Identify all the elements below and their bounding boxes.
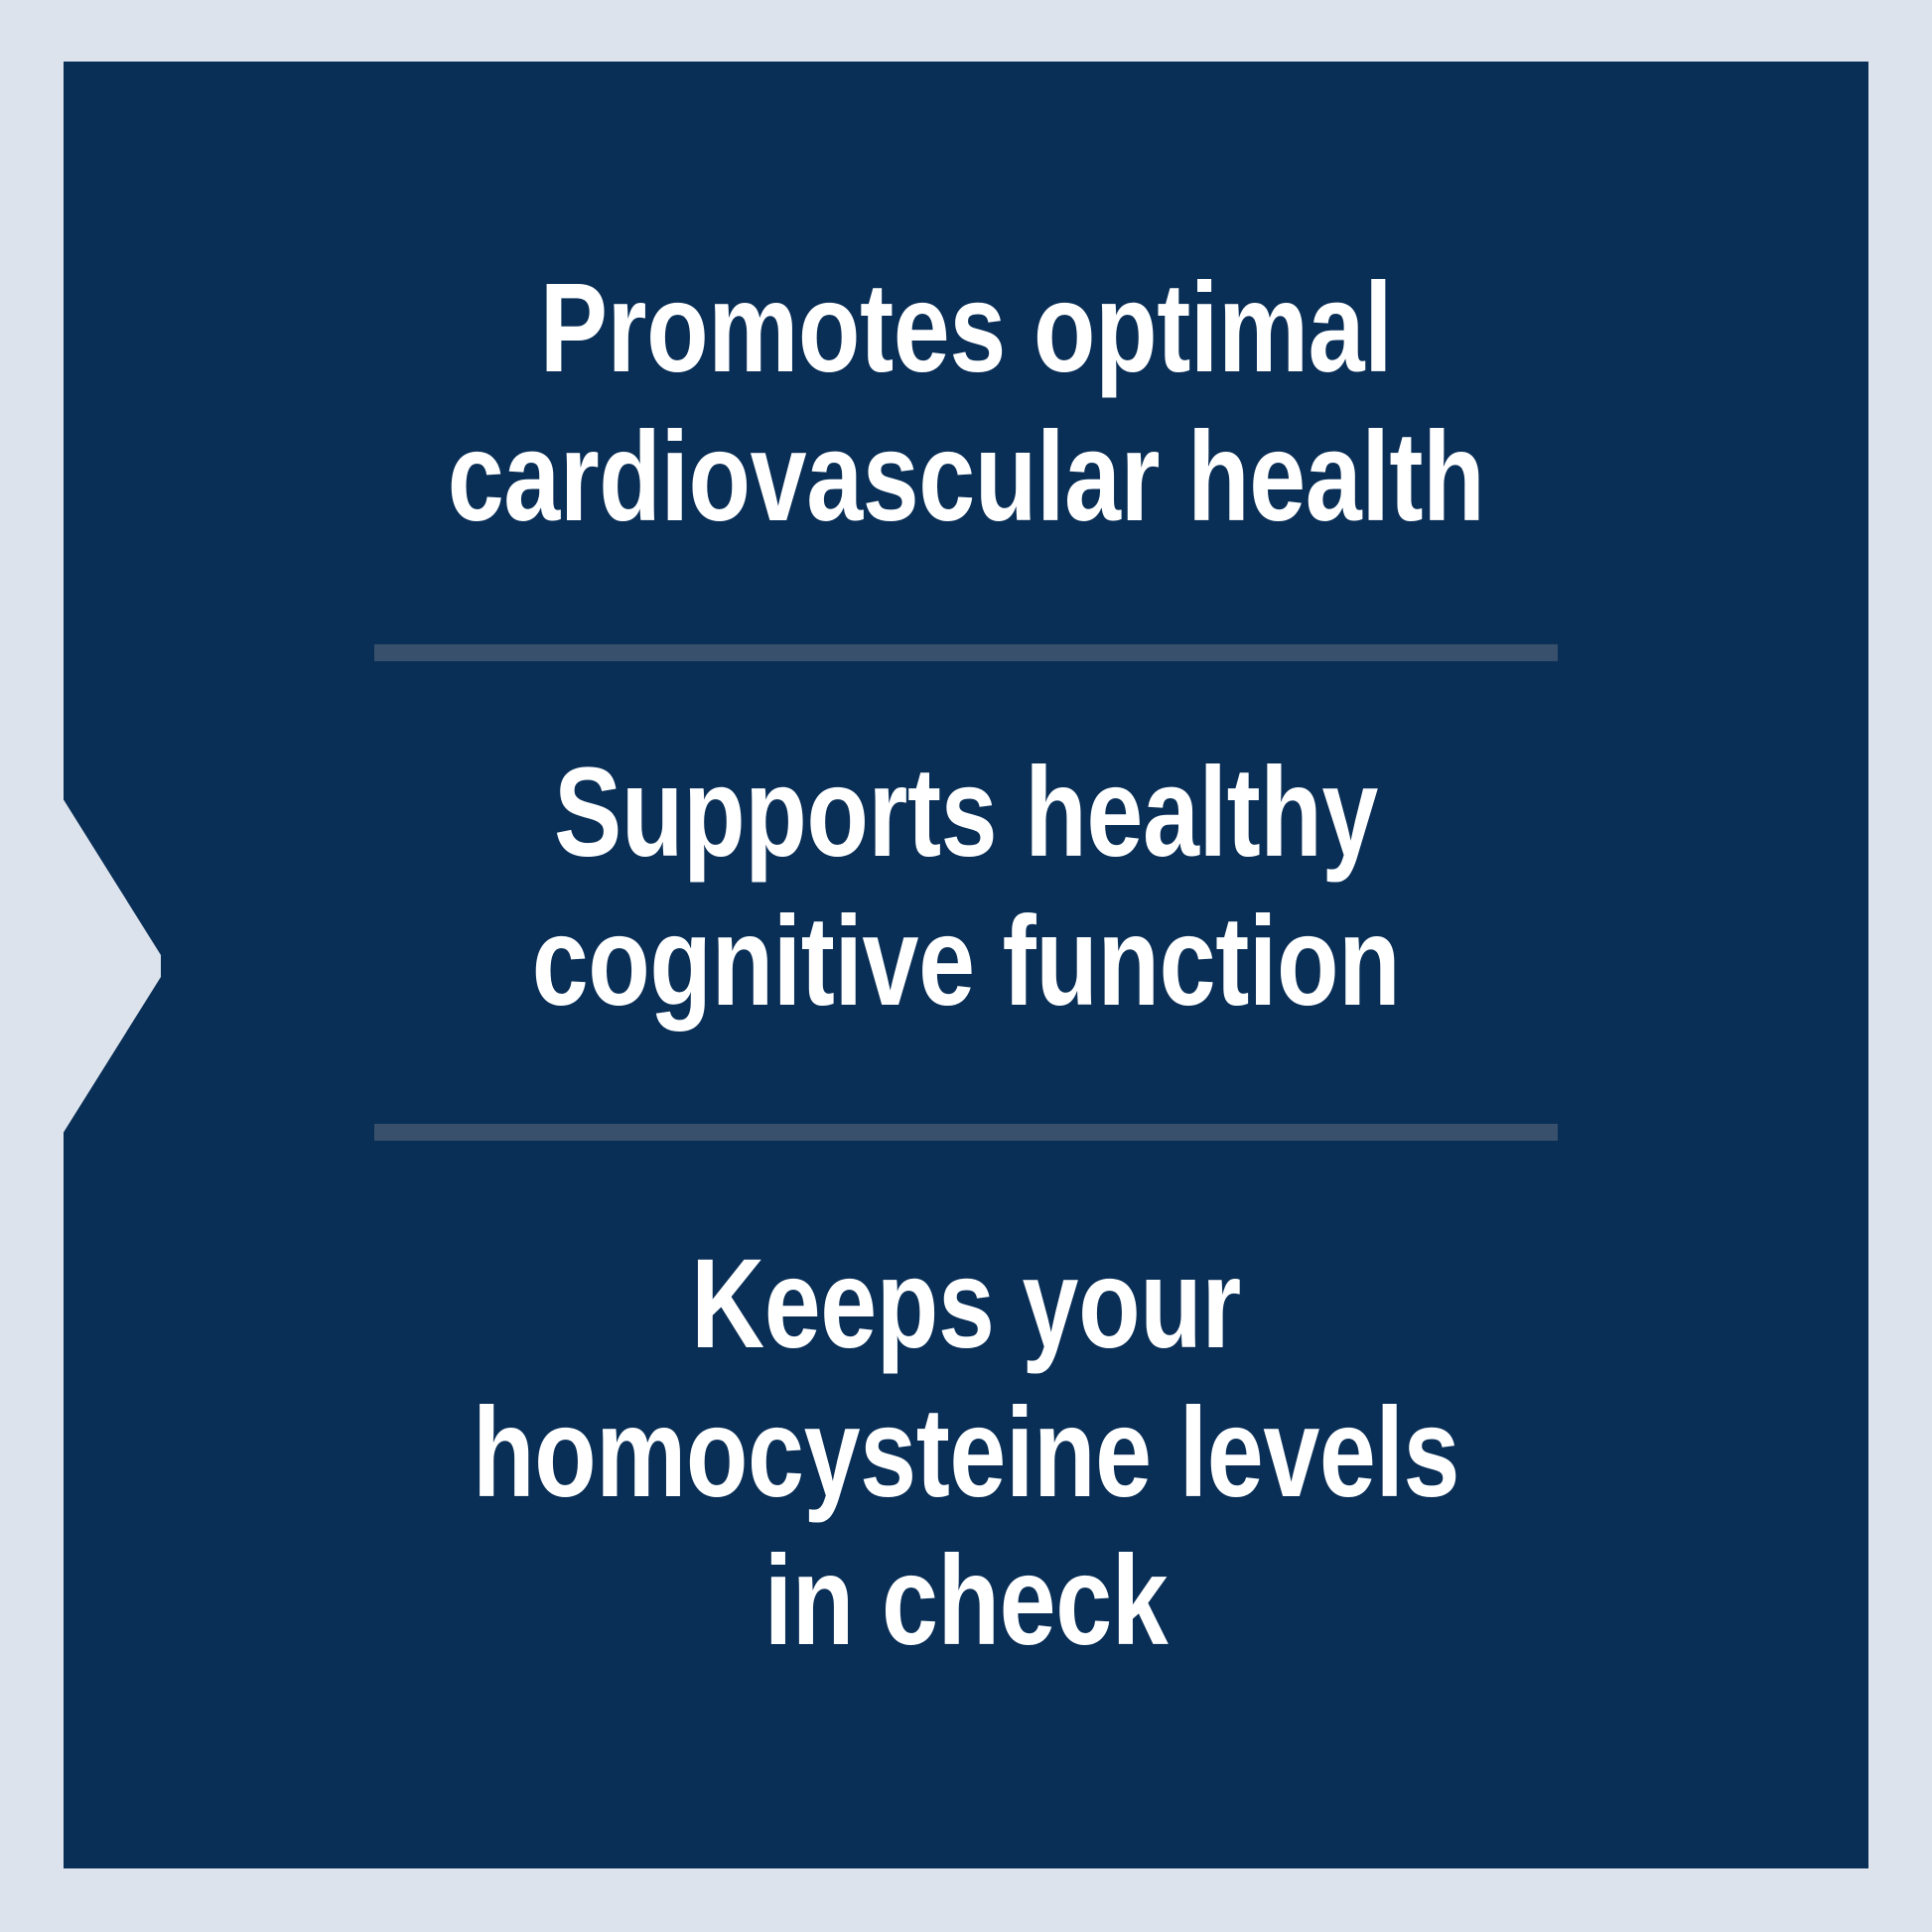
benefit-item-cognitive: Supports healthy cognitive function	[402, 739, 1530, 1036]
product-benefits-card: Promotes optimal cardiovascular health S…	[0, 0, 1932, 1932]
benefits-panel: Promotes optimal cardiovascular health S…	[64, 62, 1868, 1868]
benefit-divider-1	[374, 644, 1558, 661]
benefit-item-cardiovascular: Promotes optimal cardiovascular health	[402, 254, 1530, 552]
benefit-divider-2	[374, 1124, 1558, 1141]
benefit-item-homocysteine: Keeps your homocysteine levels in check	[402, 1230, 1530, 1676]
benefits-list: Promotes optimal cardiovascular health S…	[261, 254, 1671, 1676]
